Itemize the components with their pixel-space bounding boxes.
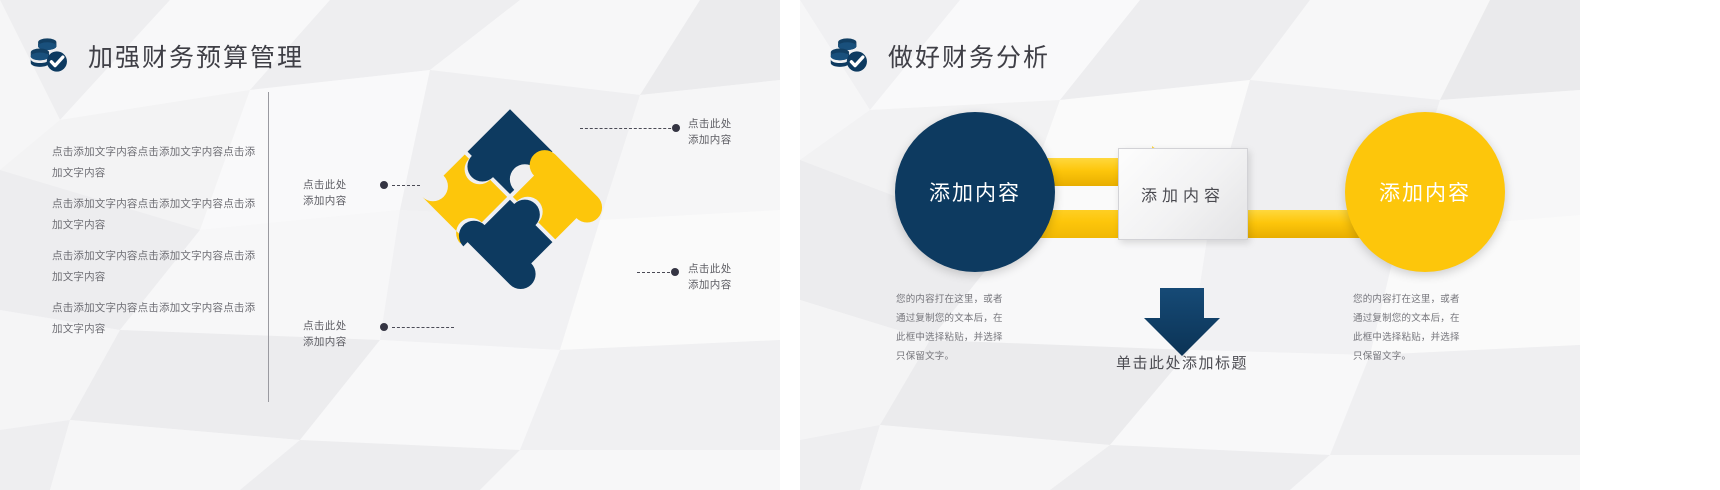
callout-bottom-right[interactable]: 点击此处 添加内容	[688, 261, 732, 294]
leader-line-middle-left	[392, 185, 420, 187]
arrow-down-navy	[1144, 288, 1220, 356]
callout-line-2: 添加内容	[688, 277, 732, 293]
node-left-circle[interactable]: 添加内容	[895, 112, 1055, 272]
vertical-divider	[268, 92, 269, 402]
leader-dot-bottom-right	[671, 268, 679, 276]
slide-gap	[780, 0, 800, 490]
callout-line-1: 点击此处	[688, 261, 732, 277]
slide-header: 加强财务预算管理	[28, 34, 304, 78]
note-right-text: 您的内容打在这里，或者通过复制您的文本后，在此框中选择粘贴，并选择只保留文字。	[1353, 290, 1468, 366]
node-right-circle[interactable]: 添加内容	[1345, 112, 1505, 272]
note-left[interactable]: 您的内容打在这里，或者通过复制您的文本后，在此框中选择粘贴，并选择只保留文字。	[896, 290, 1011, 366]
callout-line-2: 添加内容	[688, 132, 732, 148]
callout-line-2: 添加内容	[303, 334, 347, 350]
callout-line-1: 点击此处	[303, 318, 347, 334]
paragraph-item: 点击添加文字内容点击添加文字内容点击添加文字内容	[52, 246, 257, 288]
callout-bottom-left[interactable]: 点击此处 添加内容	[303, 318, 347, 351]
leader-line-bottom-right	[637, 272, 675, 274]
puzzle-diamond-graphic	[390, 100, 630, 360]
callout-middle-left[interactable]: 点击此处 添加内容	[303, 177, 347, 210]
leader-dot-bottom-left	[380, 323, 388, 331]
coins-check-icon	[28, 34, 72, 78]
note-left-text: 您的内容打在这里，或者通过复制您的文本后，在此框中选择粘贴，并选择只保留文字。	[896, 290, 1011, 366]
leader-line-top-right	[580, 128, 676, 130]
callout-line-2: 添加内容	[303, 193, 347, 209]
slide-financial-analysis[interactable]: 做好财务分析	[800, 0, 1580, 490]
node-left-circle-label: 添加内容	[929, 177, 1021, 207]
node-center-box[interactable]: 添加内容	[1118, 148, 1248, 240]
leader-dot-top-right	[672, 124, 680, 132]
callout-line-1: 点击此处	[688, 116, 732, 132]
node-center-box-label: 添加内容	[1141, 182, 1225, 206]
paragraph-item: 点击添加文字内容点击添加文字内容点击添加文字内容	[52, 298, 257, 340]
node-right-circle-label: 添加内容	[1379, 177, 1471, 207]
bottom-caption[interactable]: 单击此处添加标题	[1062, 352, 1302, 373]
page-title: 加强财务预算管理	[88, 38, 304, 74]
slide-budget-management[interactable]: 加强财务预算管理 点击添加文字内容点击添加文字内容点击添加文字内容 点击添加文字…	[0, 0, 780, 490]
paragraph-item: 点击添加文字内容点击添加文字内容点击添加文字内容	[52, 194, 257, 236]
leader-line-bottom-left	[392, 327, 454, 329]
callout-top-right[interactable]: 点击此处 添加内容	[688, 116, 732, 149]
paragraph-list: 点击添加文字内容点击添加文字内容点击添加文字内容 点击添加文字内容点击添加文字内…	[52, 142, 257, 350]
callout-line-1: 点击此处	[303, 177, 347, 193]
paragraph-item: 点击添加文字内容点击添加文字内容点击添加文字内容	[52, 142, 257, 184]
slide-deck: 加强财务预算管理 点击添加文字内容点击添加文字内容点击添加文字内容 点击添加文字…	[0, 0, 1720, 490]
note-right[interactable]: 您的内容打在这里，或者通过复制您的文本后，在此框中选择粘贴，并选择只保留文字。	[1353, 290, 1468, 366]
leader-dot-middle-left	[380, 181, 388, 189]
